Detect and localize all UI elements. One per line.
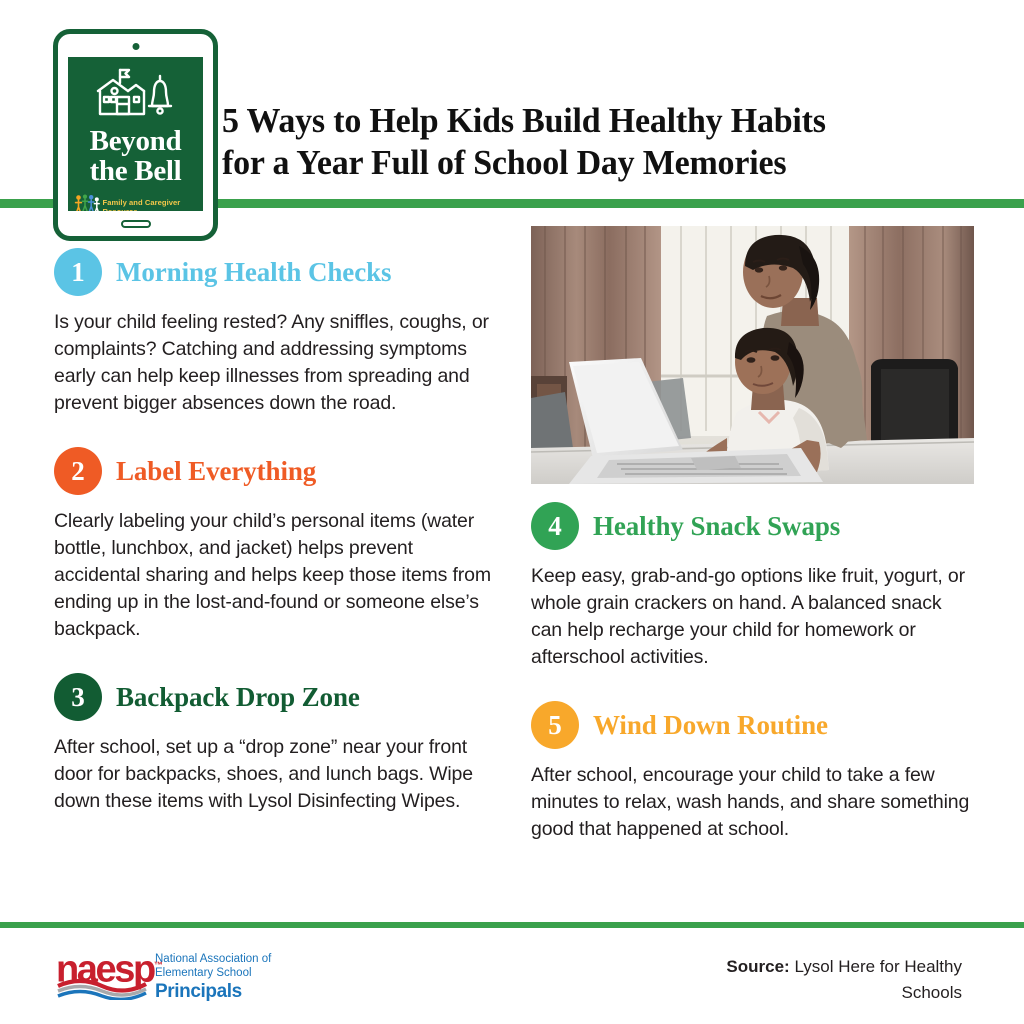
page-title-line-1: 5 Ways to Help Kids Build Healthy Habits bbox=[222, 101, 826, 140]
infographic-page: Beyond the Bell bbox=[0, 0, 1024, 1024]
source-credit: Source: Lysol Here for Healthy Schools bbox=[662, 954, 962, 1006]
page-title: 5 Ways to Help Kids Build Healthy Habits… bbox=[222, 100, 959, 184]
naesp-trademark-icon: ™ bbox=[154, 960, 163, 970]
tip-item-2: 2 Label Everything Clearly labeling your… bbox=[54, 447, 504, 643]
tip-item-1: 1 Morning Health Checks Is your child fe… bbox=[54, 248, 504, 417]
header: Beyond the Bell bbox=[0, 0, 1024, 200]
tip-2-body: Clearly labeling your child’s personal i… bbox=[54, 508, 496, 643]
footer: naesp™ National Association of Elementar… bbox=[0, 928, 1024, 1024]
parent-and-child-laptop-photo bbox=[531, 226, 974, 484]
tip-4-body: Keep easy, grab-and-go options like frui… bbox=[531, 563, 973, 671]
schoolhouse-bell-icon bbox=[88, 64, 184, 125]
tip-4-number-badge: 4 bbox=[531, 502, 579, 550]
beyond-the-bell-logo: Beyond the Bell bbox=[53, 29, 218, 241]
tip-5-title: Wind Down Routine bbox=[593, 710, 828, 740]
tip-2-header: 2 Label Everything bbox=[54, 447, 504, 495]
source-value: Lysol Here for Healthy Schools bbox=[794, 957, 962, 1002]
tip-5-number-badge: 5 bbox=[531, 701, 579, 749]
tips-column-left: 1 Morning Health Checks Is your child fe… bbox=[54, 248, 504, 839]
tips-column-right: 4 Healthy Snack Swaps Keep easy, grab-an… bbox=[531, 502, 981, 867]
tip-5-body: After school, encourage your child to ta… bbox=[531, 762, 973, 843]
family-figures-icon bbox=[74, 194, 100, 211]
logo-tagline-text: Family and Caregiver Resource bbox=[103, 198, 181, 212]
naesp-name-block: National Association of Elementary Schoo… bbox=[155, 948, 271, 1002]
tip-2-title: Label Everything bbox=[116, 456, 316, 486]
tip-3-title: Backpack Drop Zone bbox=[116, 682, 360, 712]
tablet-screen: Beyond the Bell bbox=[68, 57, 203, 211]
logo-tagline: Family and Caregiver Resource bbox=[74, 194, 198, 211]
tip-1-body: Is your child feeling rested? Any sniffl… bbox=[54, 309, 496, 417]
naesp-sub-line-2: Elementary School bbox=[155, 967, 271, 981]
naesp-sub-line-1: National Association of bbox=[155, 953, 271, 967]
tablet-camera-icon bbox=[132, 43, 139, 50]
naesp-wordmark-block: naesp™ bbox=[56, 948, 148, 1002]
logo-brand-line-2: the Bell bbox=[90, 156, 182, 186]
tip-2-number-badge: 2 bbox=[54, 447, 102, 495]
tip-item-5: 5 Wind Down Routine After school, encour… bbox=[531, 701, 981, 843]
tip-item-4: 4 Healthy Snack Swaps Keep easy, grab-an… bbox=[531, 502, 981, 671]
tip-1-title: Morning Health Checks bbox=[116, 257, 391, 287]
logo-brand-line-1: Beyond bbox=[90, 126, 182, 156]
naesp-logo: naesp™ National Association of Elementar… bbox=[56, 948, 271, 1002]
tip-3-number-badge: 3 bbox=[54, 673, 102, 721]
logo-tagline-line-2: Resource bbox=[103, 207, 138, 212]
source-label: Source: bbox=[726, 957, 789, 976]
naesp-principals: Principals bbox=[155, 981, 271, 1002]
tip-1-header: 1 Morning Health Checks bbox=[54, 248, 504, 296]
tablet-home-button-icon bbox=[121, 220, 151, 228]
page-title-line-2: for a Year Full of School Day Memories bbox=[222, 143, 786, 182]
tip-4-header: 4 Healthy Snack Swaps bbox=[531, 502, 981, 550]
tip-3-header: 3 Backpack Drop Zone bbox=[54, 673, 504, 721]
tip-4-title: Healthy Snack Swaps bbox=[593, 511, 840, 541]
tip-3-body: After school, set up a “drop zone” near … bbox=[54, 734, 496, 815]
tip-item-3: 3 Backpack Drop Zone After school, set u… bbox=[54, 673, 504, 815]
tip-1-number-badge: 1 bbox=[54, 248, 102, 296]
tip-5-header: 5 Wind Down Routine bbox=[531, 701, 981, 749]
logo-tagline-line-1: Family and Caregiver bbox=[103, 198, 181, 207]
